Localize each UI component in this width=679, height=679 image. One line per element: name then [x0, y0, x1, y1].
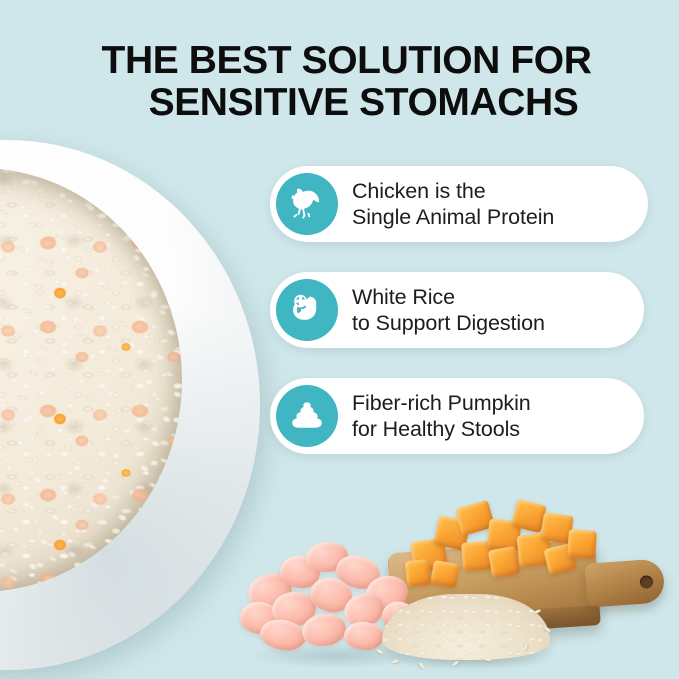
feature-pill-white-rice[interactable]: White Rice to Support Digestion [270, 272, 644, 348]
feature-2-line-2: to Support Digestion [352, 310, 545, 336]
feature-pill-pumpkin[interactable]: Fiber-rich Pumpkin for Healthy Stools [270, 378, 644, 454]
headline-line-2: SENSITIVE STOMACHS [20, 82, 679, 124]
headline-line-1: THE BEST SOLUTION FOR [20, 40, 679, 82]
pumpkin-bit-layer [0, 168, 182, 592]
product-infographic: THE BEST SOLUTION FOR SENSITIVE STOMACHS [0, 0, 679, 679]
feature-2-line-1: White Rice [352, 284, 545, 310]
ingredient-photo-group [238, 488, 679, 679]
feature-pill-white-rice-text: White Rice to Support Digestion [352, 284, 545, 336]
stool-icon [276, 385, 338, 447]
white-food-bowl [0, 140, 260, 670]
feature-1-line-2: Single Animal Protein [352, 204, 554, 230]
feature-3-line-1: Fiber-rich Pumpkin [352, 390, 531, 416]
feature-pill-pumpkin-text: Fiber-rich Pumpkin for Healthy Stools [352, 390, 531, 442]
pumpkin-cube [488, 546, 520, 578]
page-title: THE BEST SOLUTION FOR SENSITIVE STOMACHS [0, 40, 679, 124]
feature-pill-chicken[interactable]: Chicken is the Single Animal Protein [270, 166, 648, 242]
pumpkin-cube [567, 529, 597, 559]
feature-3-line-2: for Healthy Stools [352, 416, 531, 442]
feature-list: Chicken is the Single Animal Protein Whi… [270, 166, 648, 484]
rice-grain-pile [374, 584, 560, 670]
chicken-icon [276, 173, 338, 235]
feature-1-line-1: Chicken is the [352, 178, 554, 204]
bowl-food-contents [0, 168, 182, 592]
stomach-health-icon [276, 279, 338, 341]
rice-grain [376, 649, 384, 655]
food-highlight [0, 193, 20, 363]
feature-pill-chicken-text: Chicken is the Single Animal Protein [352, 178, 554, 230]
